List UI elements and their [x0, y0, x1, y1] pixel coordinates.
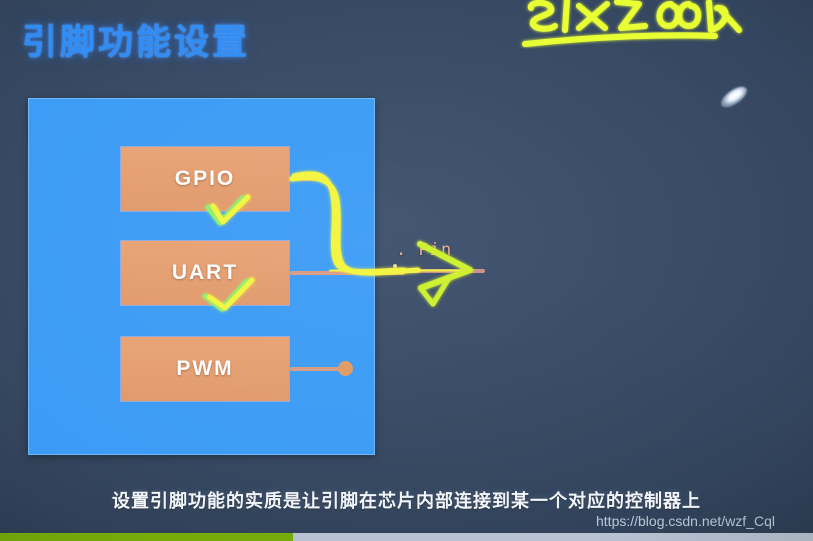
pwm-block: PWM [120, 336, 290, 402]
pin-marker-dot [393, 264, 397, 268]
chip-internal-panel: GPIO UART PWM [28, 98, 375, 455]
pin-checkmark-ink [422, 278, 449, 304]
video-progress-track[interactable] [0, 533, 813, 541]
light-glare-speck [718, 83, 751, 112]
slide-canvas: 引脚功能设置 [0, 0, 813, 541]
gpio-wire-stub [290, 177, 328, 181]
pin-wire [375, 269, 485, 273]
uart-block-label: UART [172, 261, 238, 285]
pwm-wire-endpoint-dot [338, 361, 353, 376]
pwm-block-label: PWM [176, 357, 233, 381]
uart-block: UART [120, 240, 290, 306]
gpio-block: GPIO [120, 146, 290, 212]
gpio-block-label: GPIO [175, 167, 236, 191]
pwm-wire-stub [290, 367, 342, 371]
watermark-url: https://blog.csdn.net/wzf_Cql [596, 513, 775, 529]
slide-caption: 设置引脚功能的实质是让引脚在芯片内部连接到某一个对应的控制器上 [0, 487, 813, 513]
page-title: 引脚功能设置 [22, 14, 250, 65]
video-progress-fill [0, 533, 293, 541]
pin-label: . Pin [396, 240, 452, 260]
handwritten-annotation-note [521, 0, 771, 56]
